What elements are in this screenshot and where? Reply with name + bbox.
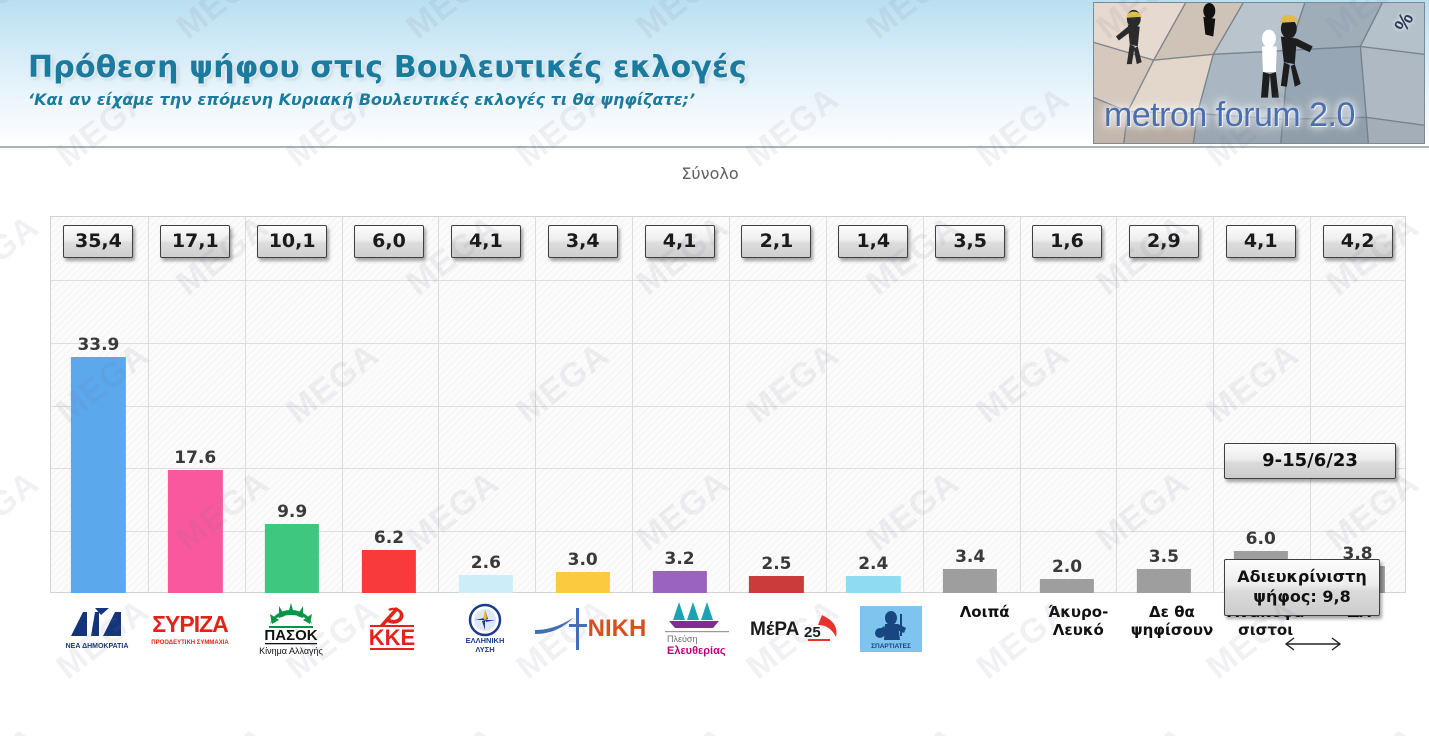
bar-value-label: 9.9 <box>265 504 319 521</box>
niki-logo: ΝΙΚΗ <box>533 603 655 655</box>
bar-value-label: 3.0 <box>556 552 610 569</box>
svg-text:Ελευθερίας: Ελευθερίας <box>667 645 726 657</box>
svg-text:ΚΚΕ: ΚΚΕ <box>369 625 415 650</box>
bar-group: 9.9 <box>265 216 319 593</box>
axis-label-8: ΜέΡΑ25 <box>748 599 844 685</box>
chart-column: 17,117.6 <box>147 216 244 593</box>
bar-value-label: 3.2 <box>652 551 706 568</box>
bar-group: 2.6 <box>459 216 513 593</box>
axis-label-text: Λευκό <box>1053 621 1104 639</box>
svg-text:ΝΙΚΗ: ΝΙΚΗ <box>587 615 646 642</box>
svg-text:ΠΑΣΟΚ: ΠΑΣΟΚ <box>265 627 318 644</box>
header-banner: Πρόθεση ψήφου στις Βουλευτικές εκλογές ‘… <box>0 0 1429 148</box>
bar-group: 6.0 <box>1234 216 1288 593</box>
double-arrow-icon <box>1281 635 1345 653</box>
svg-text:ΛΥΣΗ: ΛΥΣΗ <box>475 645 494 654</box>
axis-label-text: ψηφίσουν <box>1131 621 1214 639</box>
bar[interactable] <box>265 524 319 593</box>
chart-column: 1,42.4 <box>825 216 922 593</box>
bar-value-label: 17.6 <box>168 450 222 467</box>
bar[interactable] <box>362 550 416 593</box>
bar-value-label: 3.4 <box>943 549 997 566</box>
bar-value-label: 2.0 <box>1040 559 1094 576</box>
mera25-logo: ΜέΡΑ25 <box>748 603 844 655</box>
bar-group: 3.8 <box>1330 216 1384 593</box>
plefsi-eleftherias-logo: ΠλεύσηΕλευθερίας <box>665 603 737 655</box>
spartiates-logo: ΣΠΑΡΤΙΑΤΕΣ <box>860 603 922 655</box>
axis-label-text: Άκυρο- <box>1048 603 1108 621</box>
chart-column: 3,53.4 <box>922 216 1019 593</box>
axis-label-1: ΝΕΑ ΔΗΜΟΚΡΑΤΙΑ <box>50 599 144 685</box>
axis-label-3: ΠΑΣΟΚΚίνημα Αλλαγής <box>237 599 345 685</box>
bar-value-label: 6.2 <box>362 530 416 547</box>
axis-label-4: ΚΚΕ <box>345 599 439 685</box>
bar-value-label: 2.5 <box>749 556 803 573</box>
axis-label-12: Δε θαψηφίσουν <box>1125 599 1219 685</box>
bar-value-label: 3.5 <box>1137 549 1191 566</box>
bar[interactable] <box>749 576 803 593</box>
chart-column: 35,433.9 <box>50 216 147 593</box>
axis-label-7: ΠλεύσηΕλευθερίας <box>655 599 749 685</box>
axis-label-text: Δε θα <box>1149 603 1195 621</box>
bar[interactable] <box>71 357 125 593</box>
metron-forum-logo: metron forum 2.0 % <box>1093 2 1425 144</box>
chart-column: 6,06.2 <box>341 216 438 593</box>
undecided-line-1: Αδιευκρίνιστη <box>1229 567 1375 587</box>
page-title: Πρόθεση ψήφου στις Βουλευτικές εκλογές <box>28 50 747 85</box>
bar-group: 2.5 <box>749 216 803 593</box>
chart-column: 2,93.5 <box>1115 216 1212 593</box>
svg-text:25: 25 <box>804 624 821 641</box>
chart-column: 4,16.0 <box>1212 216 1309 593</box>
nd-logo: ΝΕΑ ΔΗΜΟΚΡΑΤΙΑ <box>65 603 129 655</box>
bar-value-label: 2.4 <box>846 556 900 573</box>
bar[interactable] <box>846 576 900 593</box>
axis-label-2: ΣΥΡΙΖΑΠΡΟΟΔΕΥΤΙΚΗ ΣΥΜΜΑΧΙΑ <box>144 599 238 685</box>
svg-text:ΠΡΟΟΔΕΥΤΙΚΗ ΣΥΜΜΑΧΙΑ: ΠΡΟΟΔΕΥΤΙΚΗ ΣΥΜΜΑΧΙΑ <box>152 640 230 646</box>
chart-title: Σύνολο <box>0 164 1420 183</box>
bar-value-label: 6.0 <box>1234 531 1288 548</box>
axis-label-9: ΣΠΑΡΤΙΑΤΕΣ <box>844 599 938 685</box>
chart-columns: 35,433.917,117.610,19.96,06.24,12.63,43.… <box>50 216 1406 593</box>
chart-column: 4,12.6 <box>437 216 534 593</box>
syriza-logo: ΣΥΡΙΖΑΠΡΟΟΔΕΥΤΙΚΗ ΣΥΜΜΑΧΙΑ <box>146 603 234 655</box>
bar-group: 3.4 <box>943 216 997 593</box>
bar-group: 2.0 <box>1040 216 1094 593</box>
bar-group: 3.2 <box>652 216 706 593</box>
bar-group: 6.2 <box>362 216 416 593</box>
bar-group: 2.4 <box>846 216 900 593</box>
bar[interactable] <box>459 575 513 593</box>
chart-column: 10,19.9 <box>244 216 341 593</box>
chart-column: 3,43.0 <box>534 216 631 593</box>
bar-group: 3.5 <box>1137 216 1191 593</box>
category-axis: ΝΕΑ ΔΗΜΟΚΡΑΤΙΑΣΥΡΙΖΑΠΡΟΟΔΕΥΤΙΚΗ ΣΥΜΜΑΧΙΑ… <box>50 599 1406 685</box>
kke-logo: ΚΚΕ <box>362 603 422 655</box>
logo-wordmark: metron forum 2.0 <box>1104 96 1355 135</box>
chart-column: 4,23.8 <box>1309 216 1406 593</box>
svg-text:Κίνημα Αλλαγής: Κίνημα Αλλαγής <box>259 646 323 656</box>
svg-text:Πλεύση: Πλεύση <box>667 634 698 644</box>
undecided-vote-box: Αδιευκρίνιστη ψήφος: 9,8 <box>1224 559 1380 616</box>
svg-text:ΣΠΑΡΤΙΑΤΕΣ: ΣΠΑΡΤΙΑΤΕΣ <box>871 643 911 650</box>
bar-group: 3.0 <box>556 216 610 593</box>
bar-value-label: 2.6 <box>459 555 513 572</box>
poll-date-box: 9-15/6/23 <box>1224 443 1396 479</box>
axis-label-text: Λοιπά <box>960 603 1010 621</box>
svg-text:ΣΥΡΙΖΑ: ΣΥΡΙΖΑ <box>153 611 229 637</box>
bar-group: 33.9 <box>71 216 125 593</box>
chart-column: 4,13.2 <box>631 216 728 593</box>
bar[interactable] <box>652 571 706 593</box>
axis-label-11: Άκυρο-Λευκό <box>1031 599 1125 685</box>
chart-column: 1,62.0 <box>1019 216 1116 593</box>
page-subtitle: ‘Και αν είχαμε την επόμενη Κυριακή Βουλε… <box>28 90 695 109</box>
svg-text:ΝΕΑ ΔΗΜΟΚΡΑΤΙΑ: ΝΕΑ ΔΗΜΟΚΡΑΤΙΑ <box>65 643 128 650</box>
pasok-logo: ΠΑΣΟΚΚίνημα Αλλαγής <box>237 603 345 655</box>
axis-label-6: ΝΙΚΗ <box>533 599 655 685</box>
svg-text:ΕΛΛΗΝΙΚΗ: ΕΛΛΗΝΙΚΗ <box>465 636 504 645</box>
svg-text:ΜέΡΑ: ΜέΡΑ <box>750 619 800 640</box>
bar[interactable] <box>1040 579 1094 593</box>
undecided-line-2: ψήφος: 9,8 <box>1229 587 1375 607</box>
axis-label-10: Λοιπά <box>938 599 1032 685</box>
elliniki-lysi-logo: ΕΛΛΗΝΙΚΗΛΥΣΗ <box>457 603 515 655</box>
chart-column: 2,12.5 <box>728 216 825 593</box>
bar[interactable] <box>168 470 222 593</box>
bar[interactable] <box>556 572 610 593</box>
bar-group: 17.6 <box>168 216 222 593</box>
bar-value-label: 33.9 <box>71 337 125 354</box>
bar[interactable] <box>943 569 997 593</box>
axis-label-5: ΕΛΛΗΝΙΚΗΛΥΣΗ <box>439 599 533 685</box>
chart-container: Σύνολο 35,433.917,117.610,19.96,06.24,12… <box>0 150 1429 736</box>
bar[interactable] <box>1137 569 1191 593</box>
